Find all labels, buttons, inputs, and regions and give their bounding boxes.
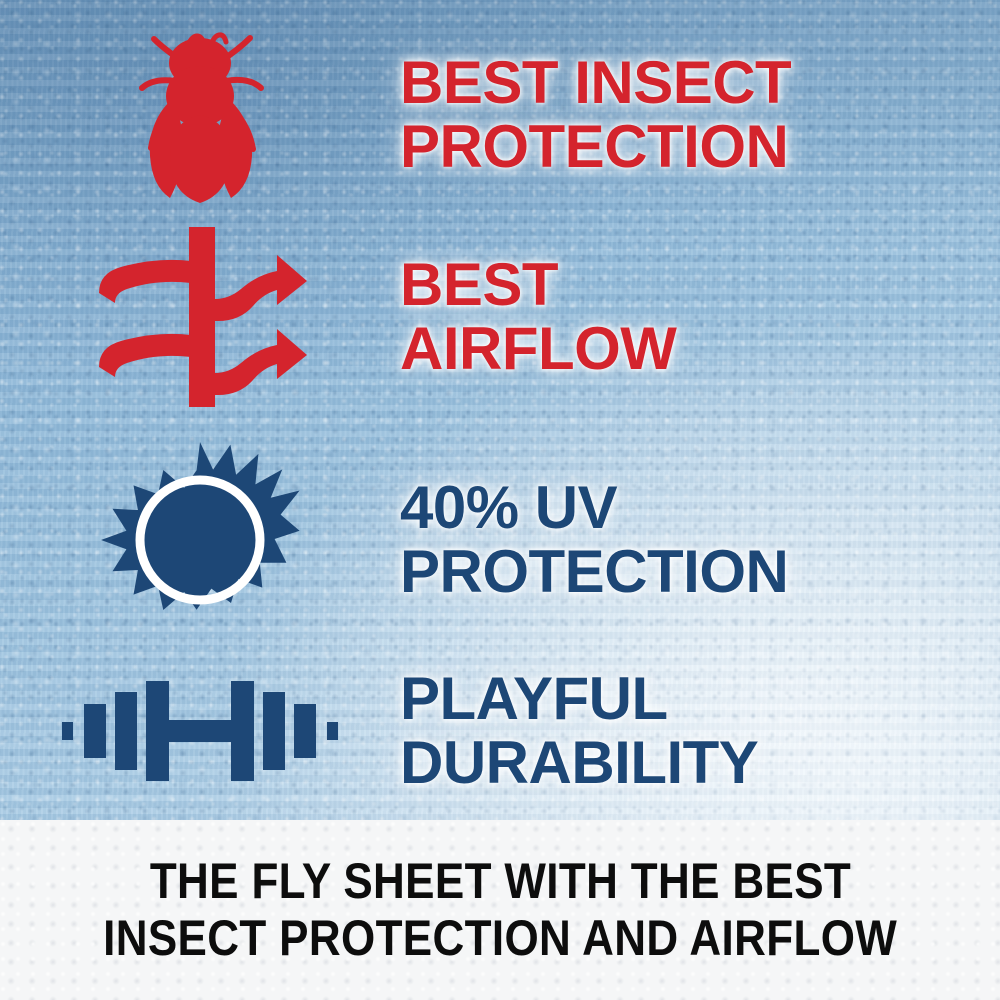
feature-row-insect-protection: BEST INSECT PROTECTION (0, 20, 1000, 210)
icon-cell-insect (0, 23, 400, 208)
text-cell-insect: BEST INSECT PROTECTION (400, 51, 1000, 179)
icon-cell-durability (0, 668, 400, 793)
airflow-arrows-icon (85, 227, 315, 407)
text-cell-durability: PLAYFUL DURABILITY (400, 667, 1000, 795)
icon-cell-airflow (0, 227, 400, 407)
feature-label-durability: PLAYFUL DURABILITY (400, 667, 1000, 795)
feature-row-uv-protection: 40% UV PROTECTION (0, 432, 1000, 647)
feature-row-airflow: BEST AIRFLOW (0, 222, 1000, 412)
feature-label-insect-protection: BEST INSECT PROTECTION (400, 51, 1000, 179)
feature-label-airflow: BEST AIRFLOW (400, 253, 1000, 381)
caption-band: THE FLY SHEET WITH THE BEST INSECT PROTE… (0, 820, 1000, 1000)
feature-row-durability: PLAYFUL DURABILITY (0, 648, 1000, 813)
feature-label-uv-protection: 40% UV PROTECTION (400, 476, 1000, 604)
text-cell-uv: 40% UV PROTECTION (400, 476, 1000, 604)
dumbbell-icon (60, 668, 340, 793)
icon-cell-uv (0, 440, 400, 640)
sun-uv-icon (100, 440, 300, 640)
fly-icon (125, 23, 275, 208)
caption-line-2: INSECT PROTECTION AND AIRFLOW (103, 910, 897, 967)
product-feature-infographic: BEST INSECT PROTECTION (0, 0, 1000, 1000)
caption-line-1: THE FLY SHEET WITH THE BEST (149, 853, 850, 910)
text-cell-airflow: BEST AIRFLOW (400, 253, 1000, 381)
